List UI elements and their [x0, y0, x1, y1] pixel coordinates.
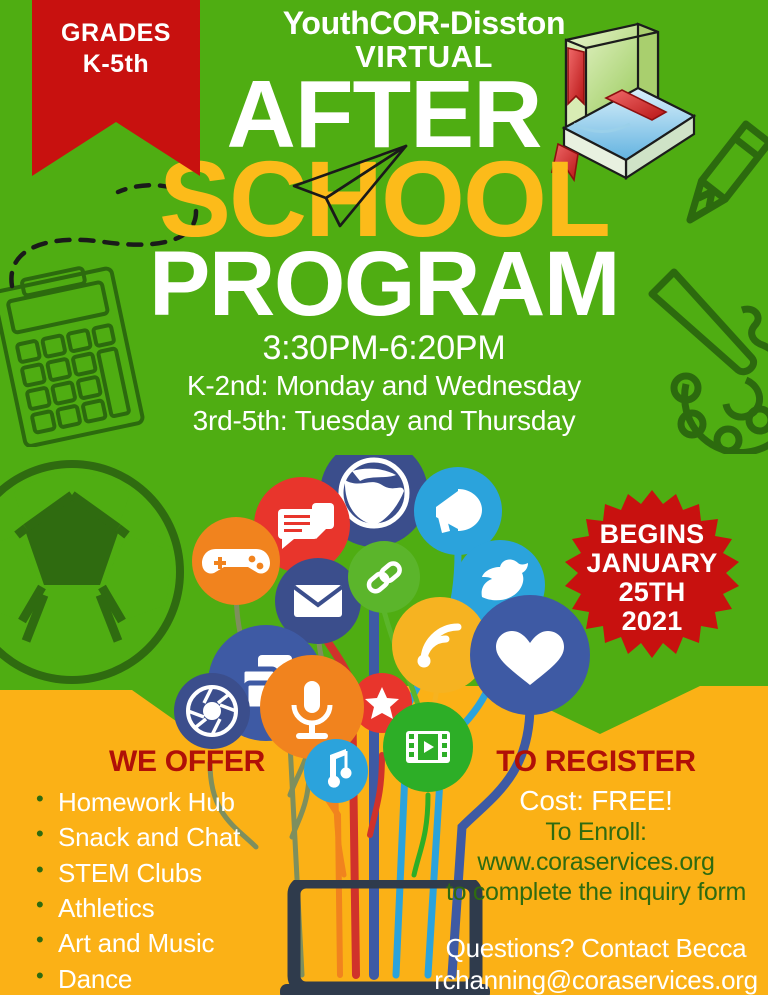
cost-text: Cost: FREE! — [424, 785, 768, 817]
heart-icon — [470, 595, 590, 715]
schedule-line-2: 3rd-5th: Tuesday and Thursday — [0, 403, 768, 438]
program-time: 3:30PM-6:20PM — [0, 329, 768, 368]
to-register-section: TO REGISTER Cost: FREE! To Enroll: www.c… — [424, 745, 768, 995]
network-ball-icon — [174, 673, 250, 749]
contact-email[interactable]: rchanning@coraservices.org — [424, 965, 768, 995]
badge-line-4: 2021 — [622, 607, 683, 636]
badge-line-3: 25TH — [619, 578, 686, 607]
to-register-header: TO REGISTER — [424, 745, 768, 779]
enroll-line-1[interactable]: To Enroll: www.coraservices.org — [424, 817, 768, 877]
enroll-line-2: to complete the inquiry form — [424, 877, 768, 907]
link-icon — [348, 541, 420, 613]
list-item: STEM Clubs — [36, 856, 308, 891]
list-item: Snack and Chat — [36, 820, 308, 855]
ribbon-line-1: GRADES — [61, 18, 171, 49]
paper-airplane-icon — [288, 128, 414, 238]
questions-line-1: Questions? Contact Becca — [424, 933, 768, 965]
music-note-icon — [304, 739, 368, 803]
we-offer-header: WE OFFER — [8, 745, 308, 779]
list-item: Art and Music — [36, 926, 308, 961]
we-offer-section: WE OFFER Homework Hub Snack and Chat STE… — [8, 745, 308, 995]
gamepad-icon — [192, 517, 280, 605]
list-item: Dance — [36, 962, 308, 995]
list-item: Athletics — [36, 891, 308, 926]
flyer-canvas: GRADES K-5th YouthCOR-Disston VIRTUAL AF… — [0, 0, 768, 995]
schedule-line-1: K-2nd: Monday and Wednesday — [0, 368, 768, 403]
badge-line-2: JANUARY — [587, 549, 718, 578]
list-item: Homework Hub — [36, 785, 308, 820]
badge-line-1: BEGINS — [600, 520, 705, 549]
we-offer-list: Homework Hub Snack and Chat STEM Clubs A… — [8, 785, 308, 995]
title-word-program: PROGRAM — [0, 242, 768, 327]
ribbon-line-2: K-5th — [83, 49, 149, 80]
